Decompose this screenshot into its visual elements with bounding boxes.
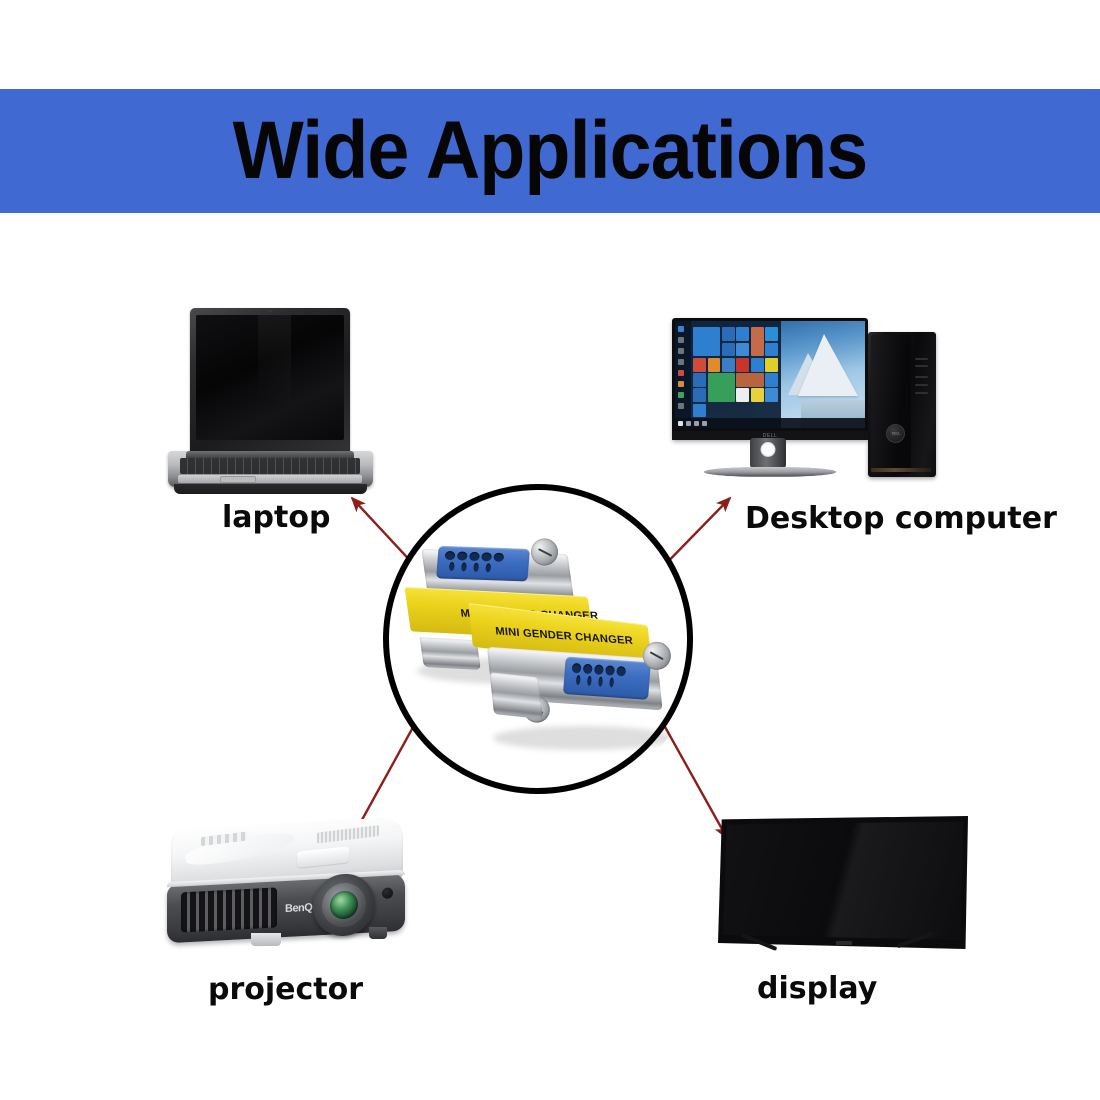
label-desktop-computer: Desktop computer <box>745 504 1057 534</box>
laptop-image <box>168 308 378 498</box>
gender-changer-product-photo: MINI GENDER CHANGER MINI GENDER CHANGER <box>389 490 699 800</box>
monitor-bezel: DELL <box>672 318 868 440</box>
adapter-a-pin-grid <box>444 551 504 573</box>
gender-changer-adapter-bottom: MINI GENDER CHANGER <box>470 598 690 764</box>
label-projector: projector <box>208 975 363 1005</box>
projector-focus-knob <box>297 846 349 867</box>
tower-brand-logo <box>886 424 905 443</box>
laptop-webcam <box>268 310 272 312</box>
projector-brand-logo: BenQ <box>285 902 312 915</box>
adapter-b-connector-face <box>563 657 651 700</box>
display-tv-image <box>718 816 970 966</box>
start-menu-tiles <box>693 327 778 417</box>
monitor-stand-base <box>699 467 841 477</box>
laptop-base <box>168 451 373 487</box>
adapter-b-pin-grid <box>571 663 626 688</box>
adapter-a-connector-face <box>436 546 530 582</box>
adapter-b-left-face <box>490 672 543 719</box>
projector-lens-housing <box>313 872 375 937</box>
label-laptop: laptop <box>222 503 330 533</box>
laptop-screen <box>196 315 344 440</box>
adapter-b-label-text: MINI GENDER CHANGER <box>495 625 634 647</box>
laptop-front-edge <box>174 484 367 494</box>
tv-screen <box>723 821 963 941</box>
projector-side-foot <box>369 927 387 939</box>
projector-lens-glass <box>330 890 358 919</box>
projector-ir-sensor <box>382 887 393 899</box>
page-title: Wide Applications <box>233 110 868 192</box>
infographic-page: Wide Applications laptop <box>0 0 1100 1100</box>
projector-lens-ring <box>322 882 366 928</box>
start-menu-rail <box>675 321 691 428</box>
projector-image: BenQ <box>163 823 413 968</box>
laptop-lid <box>190 308 350 456</box>
tower-front-panel <box>871 335 911 474</box>
stand-cable-hole <box>761 442 776 457</box>
product-highlight-circle: MINI GENDER CHANGER MINI GENDER CHANGER <box>383 484 693 794</box>
label-display: display <box>757 974 877 1004</box>
projector-top-vent <box>317 825 379 844</box>
desktop-tower <box>868 332 936 477</box>
desktop-computer-image: DELL <box>672 310 942 495</box>
laptop-hinge <box>186 451 354 458</box>
projector-vent-grille <box>181 887 277 932</box>
projector-front-foot <box>251 933 281 946</box>
tv-brand-logo <box>836 941 852 945</box>
laptop-keyboard <box>180 458 360 474</box>
header-banner: Wide Applications <box>0 89 1100 213</box>
laptop-trackpad <box>220 476 256 483</box>
tv-frame <box>718 816 968 949</box>
wallpaper-peak-main <box>798 334 858 396</box>
laptop-palmrest <box>178 475 362 483</box>
monitor-stand-neck <box>750 438 786 468</box>
tower-bottom-strip <box>871 468 931 472</box>
monitor-screen <box>675 321 865 428</box>
windows-taskbar <box>675 418 865 428</box>
windows-start-menu <box>675 321 781 428</box>
